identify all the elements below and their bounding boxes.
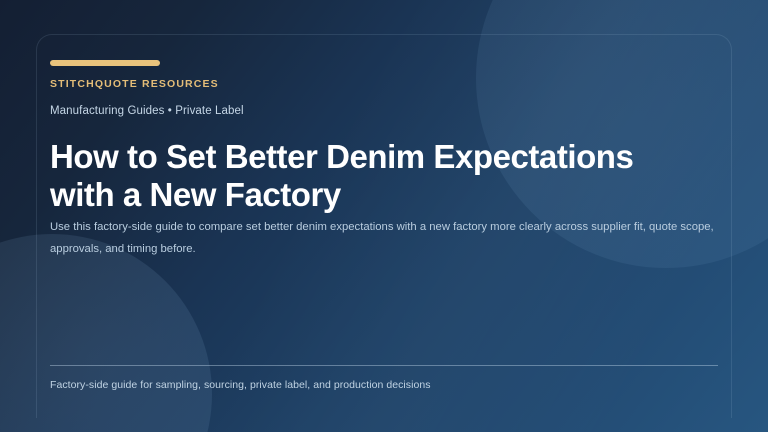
accent-bar xyxy=(50,60,160,66)
brand-eyebrow: STITCHQUOTE RESOURCES xyxy=(50,78,219,90)
page-title: How to Set Better Denim Expectations wit… xyxy=(50,138,670,214)
cover-content: STITCHQUOTE RESOURCES Manufacturing Guid… xyxy=(50,34,718,418)
footer: Factory-side guide for sampling, sourcin… xyxy=(50,365,718,391)
footer-divider xyxy=(50,365,718,366)
cover-slide: STITCHQUOTE RESOURCES Manufacturing Guid… xyxy=(0,0,768,432)
page-summary: Use this factory-side guide to compare s… xyxy=(50,216,716,260)
footer-note: Factory-side guide for sampling, sourcin… xyxy=(50,379,718,391)
category-breadcrumb: Manufacturing Guides • Private Label xyxy=(50,105,244,117)
